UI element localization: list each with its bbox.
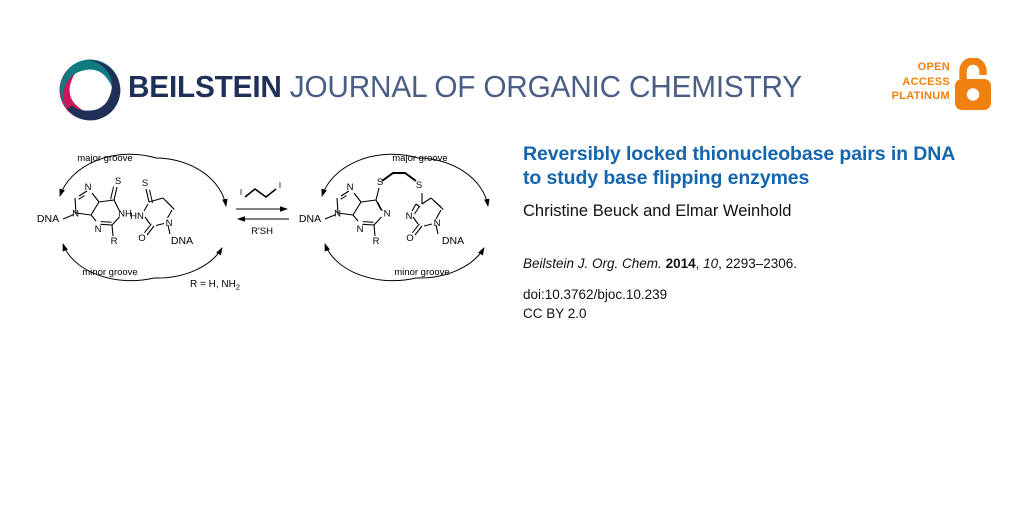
purine-left-atom-labels: N N N NH S R DNA	[37, 176, 132, 247]
dna-label-right-2: DNA	[442, 235, 464, 247]
article-citation: Beilstein J. Org. Chem. 2014, 10, 2293–2…	[523, 255, 993, 272]
dna-label-right-1: DNA	[299, 213, 321, 225]
major-groove-label-left: major groove	[77, 153, 132, 164]
substituent-note-prefix: R = H, NH	[190, 279, 236, 290]
purine-right-n7: N	[347, 182, 354, 193]
purine-left-r: R	[111, 236, 118, 247]
article-authors: Christine Beuck and Elmar Weinhold	[523, 201, 993, 221]
pyrimidine-left-s: S	[142, 178, 148, 189]
journal-wordmark: BEILSTEIN JOURNAL OF ORGANIC CHEMISTRY	[128, 68, 802, 106]
pyrimidine-right-n1: N	[434, 218, 441, 229]
open-access-text: OPEN ACCESS PLATINUM	[892, 60, 950, 104]
purine-right-r: R	[373, 236, 380, 247]
substituent-note: R = H, NH2	[190, 279, 240, 292]
substituent-note-subscript: 2	[236, 283, 240, 292]
dna-label-left-1: DNA	[37, 213, 59, 225]
journal-wordmark-light: JOURNAL OF ORGANIC CHEMISTRY	[290, 69, 802, 104]
major-groove-label-right: major groove	[392, 153, 447, 164]
article-info-block: Reversibly locked thionucleobase pairs i…	[523, 143, 993, 323]
pyrimidine-left-n1: N	[166, 218, 173, 229]
reaction-arrows: I I R'SH	[236, 181, 289, 237]
scheme-right-panel: major groove minor groove	[299, 153, 488, 281]
citation-journal: Beilstein J. Org. Chem.	[523, 256, 662, 271]
purine-left-s: S	[115, 176, 121, 187]
citation-sep-2: ,	[696, 256, 704, 271]
purine-left-n7: N	[85, 182, 92, 193]
purine-right-s: S	[377, 177, 383, 188]
journal-masthead: BEILSTEIN JOURNAL OF ORGANIC CHEMISTRY O…	[0, 0, 1024, 130]
citation-sep-3: ,	[718, 256, 726, 271]
purine-right-n1: N	[384, 209, 391, 220]
open-access-line-platinum: PLATINUM	[892, 89, 950, 104]
reagent-iodine-right: I	[279, 181, 281, 190]
beilstein-circular-logo-icon	[57, 57, 123, 123]
pyrimidine-left-hn: HN	[130, 211, 144, 222]
citation-year: 2014	[666, 256, 696, 271]
article-title: Reversibly locked thionucleobase pairs i…	[523, 143, 955, 190]
minor-groove-label-left: minor groove	[82, 267, 137, 278]
reagent-thiol-label: R'SH	[251, 226, 273, 237]
dna-label-left-2: DNA	[171, 235, 193, 247]
purine-left-n3: N	[95, 224, 102, 235]
journal-wordmark-bold: BEILSTEIN	[128, 69, 282, 104]
trimethylene-crosslink	[382, 173, 416, 181]
reagent-iodine-left: I	[240, 188, 242, 197]
article-license: CC BY 2.0	[523, 304, 993, 323]
open-padlock-icon	[952, 58, 994, 112]
open-access-line-access: ACCESS	[892, 75, 950, 90]
purine-left-n9: N	[72, 209, 79, 220]
pyrimidine-right-s: S	[416, 180, 422, 191]
purine-right-atom-labels: N N N N S R DNA	[299, 177, 391, 247]
minor-groove-label-right: minor groove	[394, 267, 449, 278]
pyrimidine-right-o: O	[406, 233, 413, 244]
open-access-line-open: OPEN	[892, 60, 950, 75]
open-access-badge: OPEN ACCESS PLATINUM	[888, 58, 994, 114]
citation-pages: 2293–2306.	[726, 256, 797, 271]
pyrimidine-left-atom-labels: S HN N O DNA	[130, 178, 193, 247]
purine-right-n3: N	[357, 224, 364, 235]
scheme-left-panel: major groove minor groove	[37, 153, 240, 292]
purine-right-n9: N	[334, 209, 341, 220]
citation-volume: 10	[703, 256, 718, 271]
pyrimidine-left-o: O	[138, 233, 145, 244]
pyrimidine-right-n3: N	[406, 211, 413, 222]
reaction-scheme-figure: major groove minor groove	[30, 140, 510, 310]
article-doi: doi:10.3762/bjoc.10.239	[523, 285, 993, 304]
diiodopropane-reagent	[245, 189, 276, 197]
